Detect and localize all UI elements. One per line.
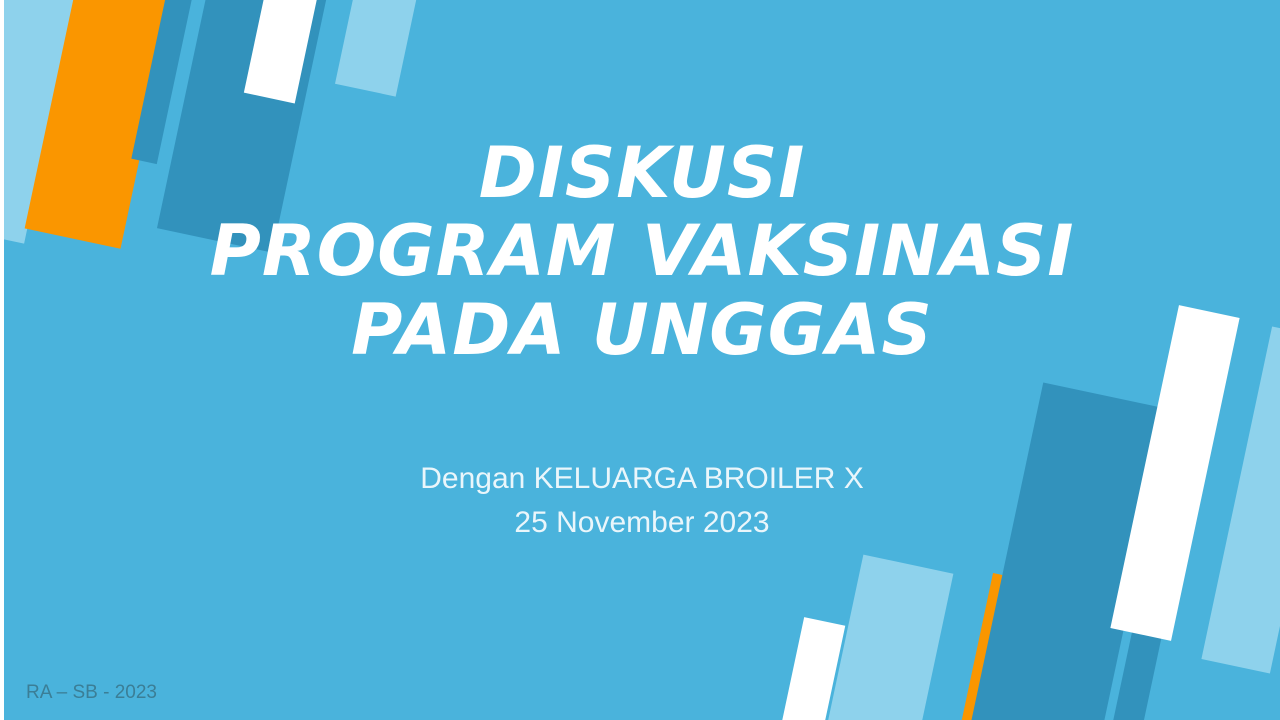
slide-subtitle: Dengan KELUARGA BROILER X 25 November 20… bbox=[4, 457, 1280, 544]
title-line-2: PROGRAM VAKSINASI bbox=[4, 212, 1280, 290]
subtitle-line-audience: Dengan KELUARGA BROILER X bbox=[4, 457, 1280, 501]
slide-footer: RA – SB - 2023 bbox=[26, 682, 157, 704]
subtitle-line-date: 25 November 2023 bbox=[4, 501, 1280, 545]
presentation-title-slide: DISKUSI PROGRAM VAKSINASI PADA UNGGAS De… bbox=[0, 0, 1280, 720]
title-line-1: DISKUSI bbox=[4, 134, 1280, 212]
slide-title: DISKUSI PROGRAM VAKSINASI PADA UNGGAS bbox=[4, 134, 1280, 369]
title-line-3: PADA UNGGAS bbox=[4, 291, 1280, 369]
slide-content: DISKUSI PROGRAM VAKSINASI PADA UNGGAS De… bbox=[4, 0, 1280, 720]
